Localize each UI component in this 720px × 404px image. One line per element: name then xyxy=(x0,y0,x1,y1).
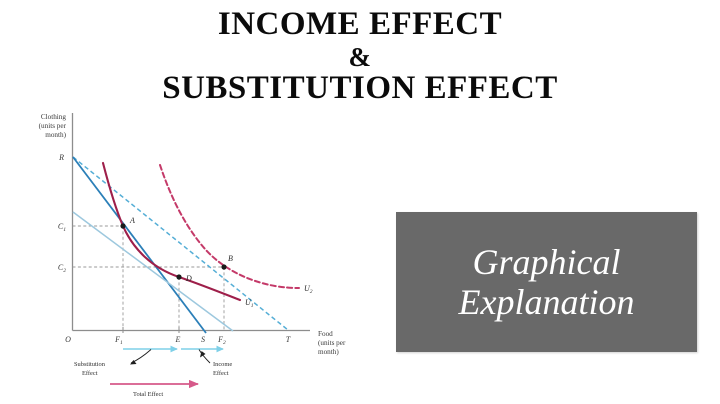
substitution-effect-label: Substitution Effect xyxy=(74,361,106,377)
point-a-label: A xyxy=(129,216,135,225)
income-effect-label-line2: Effect xyxy=(213,370,229,377)
x-axis-label: Food (units per month) xyxy=(318,330,346,356)
y-tick-label-c2: C2 xyxy=(58,263,66,274)
indifference-curve-u1 xyxy=(103,163,240,300)
income-substitution-effect-chart: Clothing (units per month) Food (units p… xyxy=(0,0,400,404)
substitution-effect-label-line2: Effect xyxy=(82,370,98,377)
guide-lines xyxy=(73,226,227,330)
callout-line-2: Explanation xyxy=(459,282,635,322)
x-tick-label-e: E xyxy=(175,335,181,344)
curve-label-u2: U2 xyxy=(304,284,313,295)
budget-line-rs xyxy=(73,157,206,333)
x-axis-label-line3: month) xyxy=(318,348,339,356)
substitution-effect-label-line1: Substitution xyxy=(74,361,106,368)
chart-svg: Clothing (units per month) Food (units p… xyxy=(0,0,400,404)
point-a-marker xyxy=(120,223,125,228)
axis-label-t: T xyxy=(286,335,291,344)
y-axis-label-line2: (units per xyxy=(39,122,67,130)
point-b-label: B xyxy=(228,254,233,263)
slide-canvas: INCOME EFFECT & SUBSTITUTION EFFECT Grap… xyxy=(0,0,720,404)
total-effect-label: Total Effect xyxy=(133,391,163,398)
axis-label-r: R xyxy=(58,153,64,162)
y-axis-label-line1: Clothing xyxy=(41,113,67,121)
y-axis-label-line3: month) xyxy=(45,131,66,139)
callout-line-1: Graphical xyxy=(473,242,621,282)
x-tick-label-f1: F1 xyxy=(114,335,123,346)
curve-label-u1: U1 xyxy=(245,298,254,309)
x-axis-label-line1: Food xyxy=(318,330,333,338)
x-tick-label-s: S xyxy=(201,335,205,344)
point-d-marker xyxy=(176,274,181,279)
y-axis-label: Clothing (units per month) xyxy=(39,113,67,139)
budget-line-rt xyxy=(73,157,288,330)
x-tick-label-f2: F2 xyxy=(217,335,226,346)
indifference-curve-u2 xyxy=(160,165,299,288)
budget-line-compensated xyxy=(73,212,233,331)
y-tick-label-c1: C1 xyxy=(58,222,66,233)
point-b-marker xyxy=(221,264,226,269)
point-d-label: D xyxy=(185,274,192,283)
income-effect-label: Income Effect xyxy=(213,361,232,377)
graphical-explanation-callout: Graphical Explanation xyxy=(396,212,697,352)
x-tick-label-o: O xyxy=(65,335,71,344)
x-axis-label-line2: (units per xyxy=(318,339,346,347)
curve-labels: U1 U2 xyxy=(245,284,313,309)
income-effect-label-line1: Income xyxy=(213,361,232,368)
